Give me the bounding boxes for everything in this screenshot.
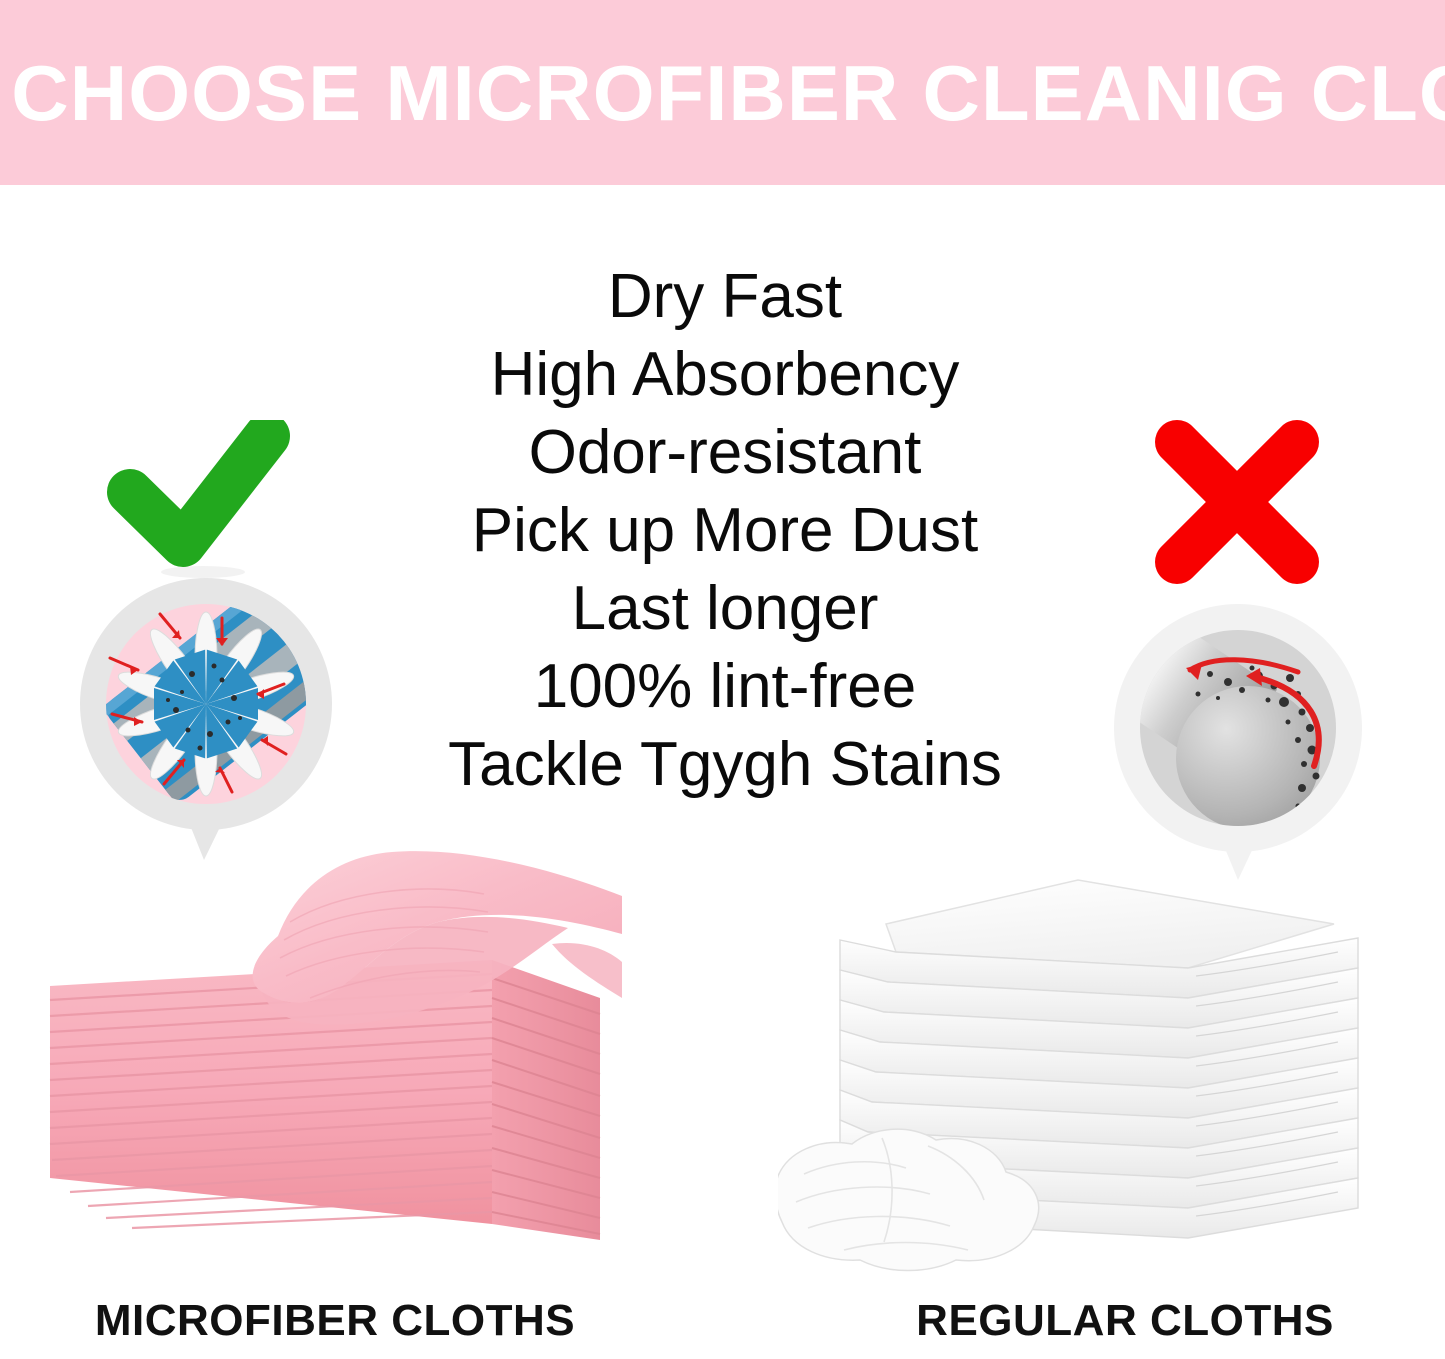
check-icon [95, 420, 310, 580]
benefit-line: Last longer [360, 570, 1090, 648]
benefits-list: Dry Fast High Absorbency Odor-resistant … [360, 258, 1090, 804]
white-regular-cloth-stack-photo [778, 876, 1403, 1276]
benefit-line: Pick up More Dust [360, 492, 1090, 570]
cross-icon [1145, 420, 1355, 585]
benefit-line: Tackle Tgygh Stains [360, 726, 1090, 804]
benefit-line: Dry Fast [360, 258, 1090, 336]
microfiber-fiber-cross-section-icon [72, 572, 344, 864]
regular-fiber-dust-deflection-icon [1102, 598, 1374, 883]
header-banner: WHY CHOOSE MICROFIBER CLEANIG CLOTHS [0, 0, 1445, 185]
page-title: WHY CHOOSE MICROFIBER CLEANIG CLOTHS [0, 54, 1445, 132]
caption-microfiber-cloths: MICROFIBER CLOTHS [35, 1296, 635, 1346]
benefit-line: 100% lint-free [360, 648, 1090, 726]
caption-regular-cloths: REGULAR CLOTHS [820, 1296, 1430, 1346]
pink-microfiber-cloth-stack-photo [40, 848, 640, 1272]
benefit-line: Odor-resistant [360, 414, 1090, 492]
benefit-line: High Absorbency [360, 336, 1090, 414]
